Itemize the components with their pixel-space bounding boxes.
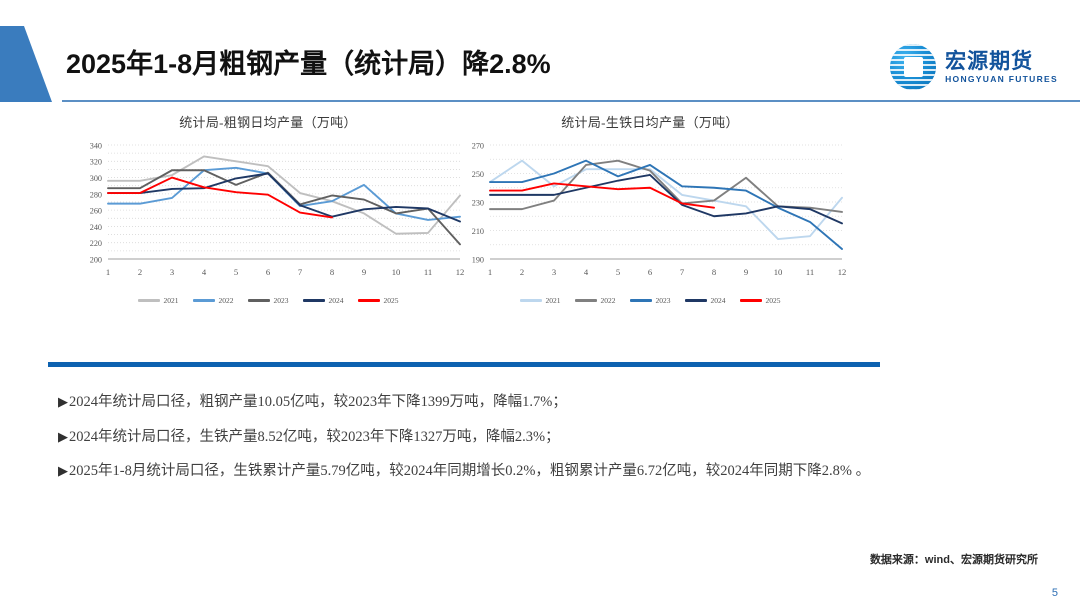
- legend-label: 2021: [164, 296, 179, 305]
- x-axis-tick-label: 9: [362, 267, 366, 277]
- series-line-2021: [108, 156, 460, 233]
- bullet-text: 2024年统计局口径，粗钢产量10.05亿吨，较2023年下降1399万吨，降幅…: [69, 394, 567, 410]
- slide: 2025年1-8月粗钢产量（统计局）降2.8% 宏源期货 HONGYUAN FU…: [0, 0, 1080, 608]
- y-axis-tick-label: 300: [90, 174, 102, 183]
- legend-label: 2022: [601, 296, 616, 305]
- series-line-2021: [490, 161, 842, 239]
- chart-title: 统计局-生铁日均产量（万吨）: [450, 112, 850, 131]
- line-chart-svg: 190210230250270123456789101112: [450, 137, 850, 289]
- logo-name-cn: 宏源期货: [945, 51, 1058, 72]
- bullet-triangle-icon: ▶: [58, 394, 68, 409]
- x-axis-tick-label: 3: [170, 267, 174, 277]
- x-axis-tick-label: 6: [648, 267, 653, 277]
- y-axis-tick-label: 280: [90, 190, 102, 199]
- legend-label: 2023: [656, 296, 671, 305]
- page-title: 2025年1-8月粗钢产量（统计局）降2.8%: [66, 42, 551, 81]
- chart-legend: 20212022202320242025: [450, 296, 850, 305]
- legend-item-2023[interactable]: 2023: [248, 296, 289, 305]
- x-axis-tick-label: 10: [392, 267, 401, 277]
- title-divider: [62, 100, 1080, 102]
- page-number: 5: [1052, 587, 1058, 599]
- x-axis-tick-label: 1: [106, 267, 110, 277]
- x-axis-tick-label: 4: [584, 267, 589, 277]
- y-axis-tick-label: 200: [90, 255, 102, 264]
- legend-item-2025[interactable]: 2025: [740, 296, 781, 305]
- legend-color-swatch: [138, 299, 160, 302]
- chart-pig-iron: 统计局-生铁日均产量（万吨） 1902102302502701234567891…: [450, 112, 850, 337]
- x-axis-tick-label: 3: [552, 267, 556, 277]
- legend-item-2021[interactable]: 2021: [520, 296, 561, 305]
- y-axis-tick-label: 320: [90, 158, 102, 167]
- x-axis-tick-label: 7: [680, 267, 685, 277]
- bullet-item: ▶2025年1-8月统计局口径，生铁累计产量5.79亿吨，较2024年同期增长0…: [58, 464, 1038, 479]
- y-axis-tick-label: 210: [472, 227, 484, 236]
- legend-color-swatch: [630, 299, 652, 302]
- section-divider: [48, 362, 880, 367]
- legend-label: 2024: [711, 296, 726, 305]
- plot-area: 190210230250270123456789101112: [450, 137, 850, 289]
- logo-name-en: HONGYUAN FUTURES: [945, 75, 1058, 84]
- corner-accent-shape: [0, 26, 52, 102]
- legend-color-swatch: [193, 299, 215, 302]
- bullet-list: ▶2024年统计局口径，粗钢产量10.05亿吨，较2023年下降1399万吨，降…: [58, 395, 1038, 499]
- bullet-triangle-icon: ▶: [58, 463, 68, 478]
- y-axis-tick-label: 250: [472, 170, 484, 179]
- bullet-item: ▶2024年统计局口径，生铁产量8.52亿吨，较2023年下降1327万吨，降幅…: [58, 430, 1038, 445]
- chart-legend: 20212022202320242025: [68, 296, 468, 305]
- x-axis-tick-label: 9: [744, 267, 748, 277]
- bullet-text: 2024年统计局口径，生铁产量8.52亿吨，较2023年下降1327万吨，降幅2…: [69, 429, 560, 445]
- series-line-2023: [490, 161, 842, 249]
- legend-item-2022[interactable]: 2022: [575, 296, 616, 305]
- y-axis-tick-label: 340: [90, 141, 102, 150]
- chart-title: 统计局-粗钢日均产量（万吨）: [68, 112, 468, 131]
- legend-item-2022[interactable]: 2022: [193, 296, 234, 305]
- legend-color-swatch: [685, 299, 707, 302]
- legend-label: 2022: [219, 296, 234, 305]
- legend-color-swatch: [520, 299, 542, 302]
- x-axis-tick-label: 1: [488, 267, 492, 277]
- x-axis-tick-label: 12: [838, 267, 847, 277]
- x-axis-tick-label: 5: [616, 267, 620, 277]
- x-axis-tick-label: 10: [774, 267, 783, 277]
- y-axis-tick-label: 270: [472, 141, 484, 150]
- x-axis-tick-label: 2: [520, 267, 524, 277]
- legend-item-2024[interactable]: 2024: [685, 296, 726, 305]
- bullet-item: ▶2024年统计局口径，粗钢产量10.05亿吨，较2023年下降1399万吨，降…: [58, 395, 1038, 410]
- legend-color-swatch: [575, 299, 597, 302]
- y-axis-tick-label: 230: [472, 198, 484, 207]
- x-axis-tick-label: 11: [424, 267, 432, 277]
- x-axis-tick-label: 11: [806, 267, 814, 277]
- bullet-text: 2025年1-8月统计局口径，生铁累计产量5.79亿吨，较2024年同期增长0.…: [69, 463, 870, 479]
- legend-color-swatch: [358, 299, 380, 302]
- legend-color-swatch: [740, 299, 762, 302]
- legend-label: 2025: [384, 296, 399, 305]
- x-axis-tick-label: 4: [202, 267, 207, 277]
- logo-mark-icon: [890, 44, 936, 90]
- y-axis-tick-label: 260: [90, 207, 102, 216]
- logo-text: 宏源期货 HONGYUAN FUTURES: [945, 51, 1058, 84]
- x-axis-tick-label: 5: [234, 267, 238, 277]
- plot-area: 200220240260280300320340123456789101112: [68, 137, 468, 289]
- legend-label: 2021: [546, 296, 561, 305]
- x-axis-tick-label: 7: [298, 267, 303, 277]
- legend-color-swatch: [303, 299, 325, 302]
- company-logo: 宏源期货 HONGYUAN FUTURES: [890, 44, 1058, 90]
- line-chart-svg: 200220240260280300320340123456789101112: [68, 137, 468, 289]
- x-axis-tick-label: 8: [712, 267, 716, 277]
- y-axis-tick-label: 190: [472, 255, 484, 264]
- logo-square: [904, 57, 923, 77]
- y-axis-tick-label: 220: [90, 239, 102, 248]
- bullet-triangle-icon: ▶: [58, 429, 68, 444]
- legend-color-swatch: [248, 299, 270, 302]
- legend-item-2024[interactable]: 2024: [303, 296, 344, 305]
- chart-crude-steel: 统计局-粗钢日均产量（万吨） 2002202402602803003203401…: [68, 112, 468, 337]
- legend-item-2025[interactable]: 2025: [358, 296, 399, 305]
- data-source-note: 数据来源：wind、宏源期货研究所: [870, 551, 1038, 567]
- legend-label: 2023: [274, 296, 289, 305]
- x-axis-tick-label: 2: [138, 267, 142, 277]
- y-axis-tick-label: 240: [90, 223, 102, 232]
- x-axis-tick-label: 8: [330, 267, 334, 277]
- x-axis-tick-label: 6: [266, 267, 271, 277]
- legend-label: 2024: [329, 296, 344, 305]
- legend-item-2021[interactable]: 2021: [138, 296, 179, 305]
- charts-container: 统计局-粗钢日均产量（万吨） 2002202402602803003203401…: [58, 112, 1018, 337]
- legend-label: 2025: [766, 296, 781, 305]
- legend-item-2023[interactable]: 2023: [630, 296, 671, 305]
